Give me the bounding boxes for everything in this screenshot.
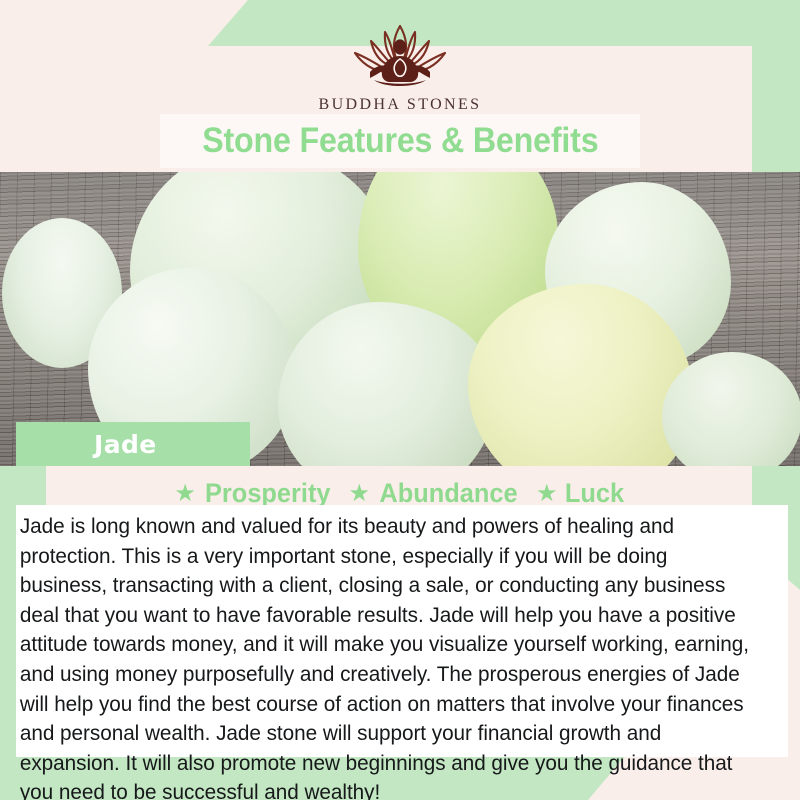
star-icon: ★ bbox=[536, 479, 558, 508]
description-panel: Jade is long known and valued for its be… bbox=[16, 505, 788, 757]
stone-shape bbox=[662, 352, 800, 466]
brand-logo: BUDDHA STONES bbox=[0, 22, 800, 114]
stone-benefits-infographic: BUDDHA STONES Stone Features & Benefits … bbox=[0, 0, 800, 800]
lotus-meditation-icon bbox=[340, 22, 460, 94]
page-title: Stone Features & Benefits bbox=[202, 121, 598, 161]
star-icon: ★ bbox=[349, 479, 371, 508]
description-text: Jade is long known and valued for its be… bbox=[16, 512, 761, 800]
brand-name: BUDDHA STONES bbox=[0, 96, 800, 114]
title-bar: Stone Features & Benefits bbox=[160, 114, 640, 168]
stone-name-badge: Jade bbox=[16, 422, 250, 466]
star-icon: ★ bbox=[174, 479, 196, 508]
stone-name: Jade bbox=[94, 430, 157, 459]
